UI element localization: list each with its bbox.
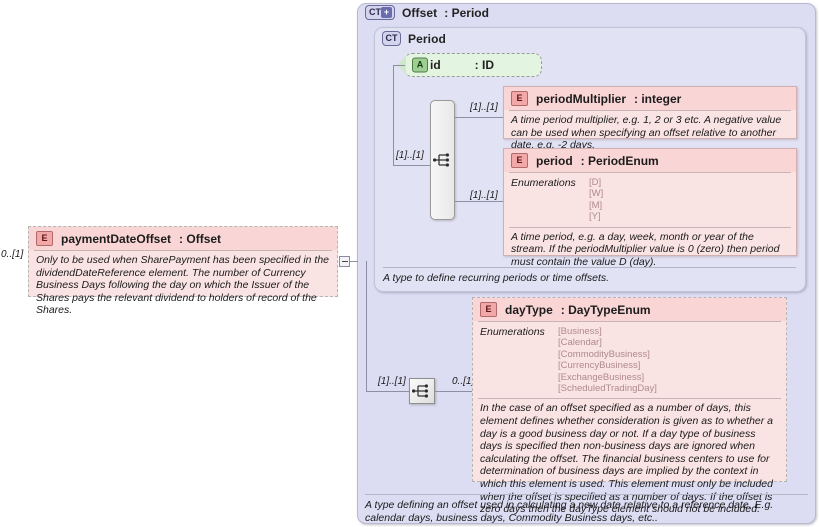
element-type: : integer [634,92,681,106]
connector-line-attr-vertical [393,65,394,165]
element-name: period [536,154,573,168]
inner-panel-name: Period [408,32,446,46]
enum-item: [M] [589,200,603,211]
element-name: dayType [505,303,553,317]
enumerations-values: [D] [W] [M] [Y] [589,177,603,223]
cardinality-outer-sequence-in: [1]..[1] [378,376,406,387]
connector-line-to-periodmultiplier [455,117,503,118]
cardinality-sequence-in: [1]..[1] [396,150,424,161]
enumerations-values: [Business] [Calendar] [CommodityBusiness… [558,326,657,394]
element-name: paymentDateOffset [61,232,171,246]
element-type: : Offset [179,232,221,246]
attribute-badge-icon: A [412,58,428,73]
cardinality-periodmultiplier: [1]..[1] [470,102,498,113]
sequence-connector-tall[interactable] [430,100,455,220]
element-header-periodmultiplier: E periodMultiplier : integer [504,87,796,110]
enumerations-label: Enumerations [480,326,558,394]
element-badge-icon: E [480,302,497,317]
element-type: : DayTypeEnum [561,303,651,317]
complextype-expand-badge-icon[interactable]: CT+ [365,5,395,20]
element-box-daytype[interactable]: E dayType : DayTypeEnum Enumerations [Bu… [472,297,787,482]
element-header-period: E period : PeriodEnum [504,149,796,172]
attribute-name: id [430,58,441,72]
connector-line-seq-in [393,165,430,166]
type-documentation-offset: A type defining an offset used in calcul… [365,494,808,524]
type-doc-text: A type defining an offset used in calcul… [365,495,808,524]
element-enumerations-daytype: Enumerations [Business] [Calendar] [Comm… [473,322,786,398]
complextype-badge-icon: CT [382,31,401,46]
sequence-icon [433,153,453,167]
connector-line-outer-to-seq [366,391,409,392]
element-badge-icon: E [511,91,528,106]
cardinality-daytype: 0..[1] [452,376,474,387]
sequence-icon [412,384,432,398]
element-documentation: Only to be used when SharePayment has be… [29,251,337,322]
element-box-periodmultiplier[interactable]: E periodMultiplier : integer A time peri… [503,86,797,139]
element-badge-icon: E [511,153,528,168]
connector-line-outer-vertical [366,261,367,391]
collapse-toggle-button[interactable] [339,256,350,267]
cardinality-period: [1]..[1] [470,190,498,201]
enum-item: [W] [589,188,603,199]
element-name: periodMultiplier [536,92,626,106]
plus-icon[interactable]: + [381,7,392,18]
inner-panel-header: CT Period [382,31,446,46]
enum-item: [CurrencyBusiness] [558,360,657,371]
element-enumerations-period: Enumerations [D] [W] [M] [Y] [504,173,796,227]
element-badge-icon: E [36,231,53,246]
element-box-paymentdateoffset[interactable]: E paymentDateOffset : Offset Only to be … [28,226,338,297]
enum-item: [Y] [589,211,603,222]
outer-panel-header: CT+ Offset : Period [365,5,489,20]
minus-icon [342,261,348,262]
type-documentation-period: A type to define recurring periods or ti… [383,267,796,285]
connector-line-to-period [455,201,503,202]
enum-item: [ScheduledTradingDay] [558,383,657,394]
element-box-period[interactable]: E period : PeriodEnum Enumerations [D] [… [503,148,797,256]
enum-item: [ExchangeBusiness] [558,372,657,383]
outer-panel-type: : Period [444,6,489,20]
enum-item: [CommodityBusiness] [558,349,657,360]
attribute-type: : ID [475,58,494,72]
sequence-connector-small[interactable] [409,378,435,404]
element-header-daytype: E dayType : DayTypeEnum [473,298,786,321]
type-doc-text: A type to define recurring periods or ti… [383,268,796,285]
enum-item: [Calendar] [558,337,657,348]
connector-line-seq-to-daytype [435,391,472,392]
element-header-paymentdateoffset: E paymentDateOffset : Offset [29,227,337,250]
enum-item: [Business] [558,326,657,337]
element-type: : PeriodEnum [581,154,659,168]
connector-line-paymentdateoffset-to-offset [350,261,358,262]
connector-line-attr-horizontal [393,65,405,66]
attribute-box-id[interactable]: A id : ID [404,53,542,77]
cardinality-paymentdateoffset: 0..[1] [1,249,23,260]
enumerations-label: Enumerations [511,177,589,223]
outer-panel-name: Offset [402,6,437,20]
enum-item: [D] [589,177,603,188]
